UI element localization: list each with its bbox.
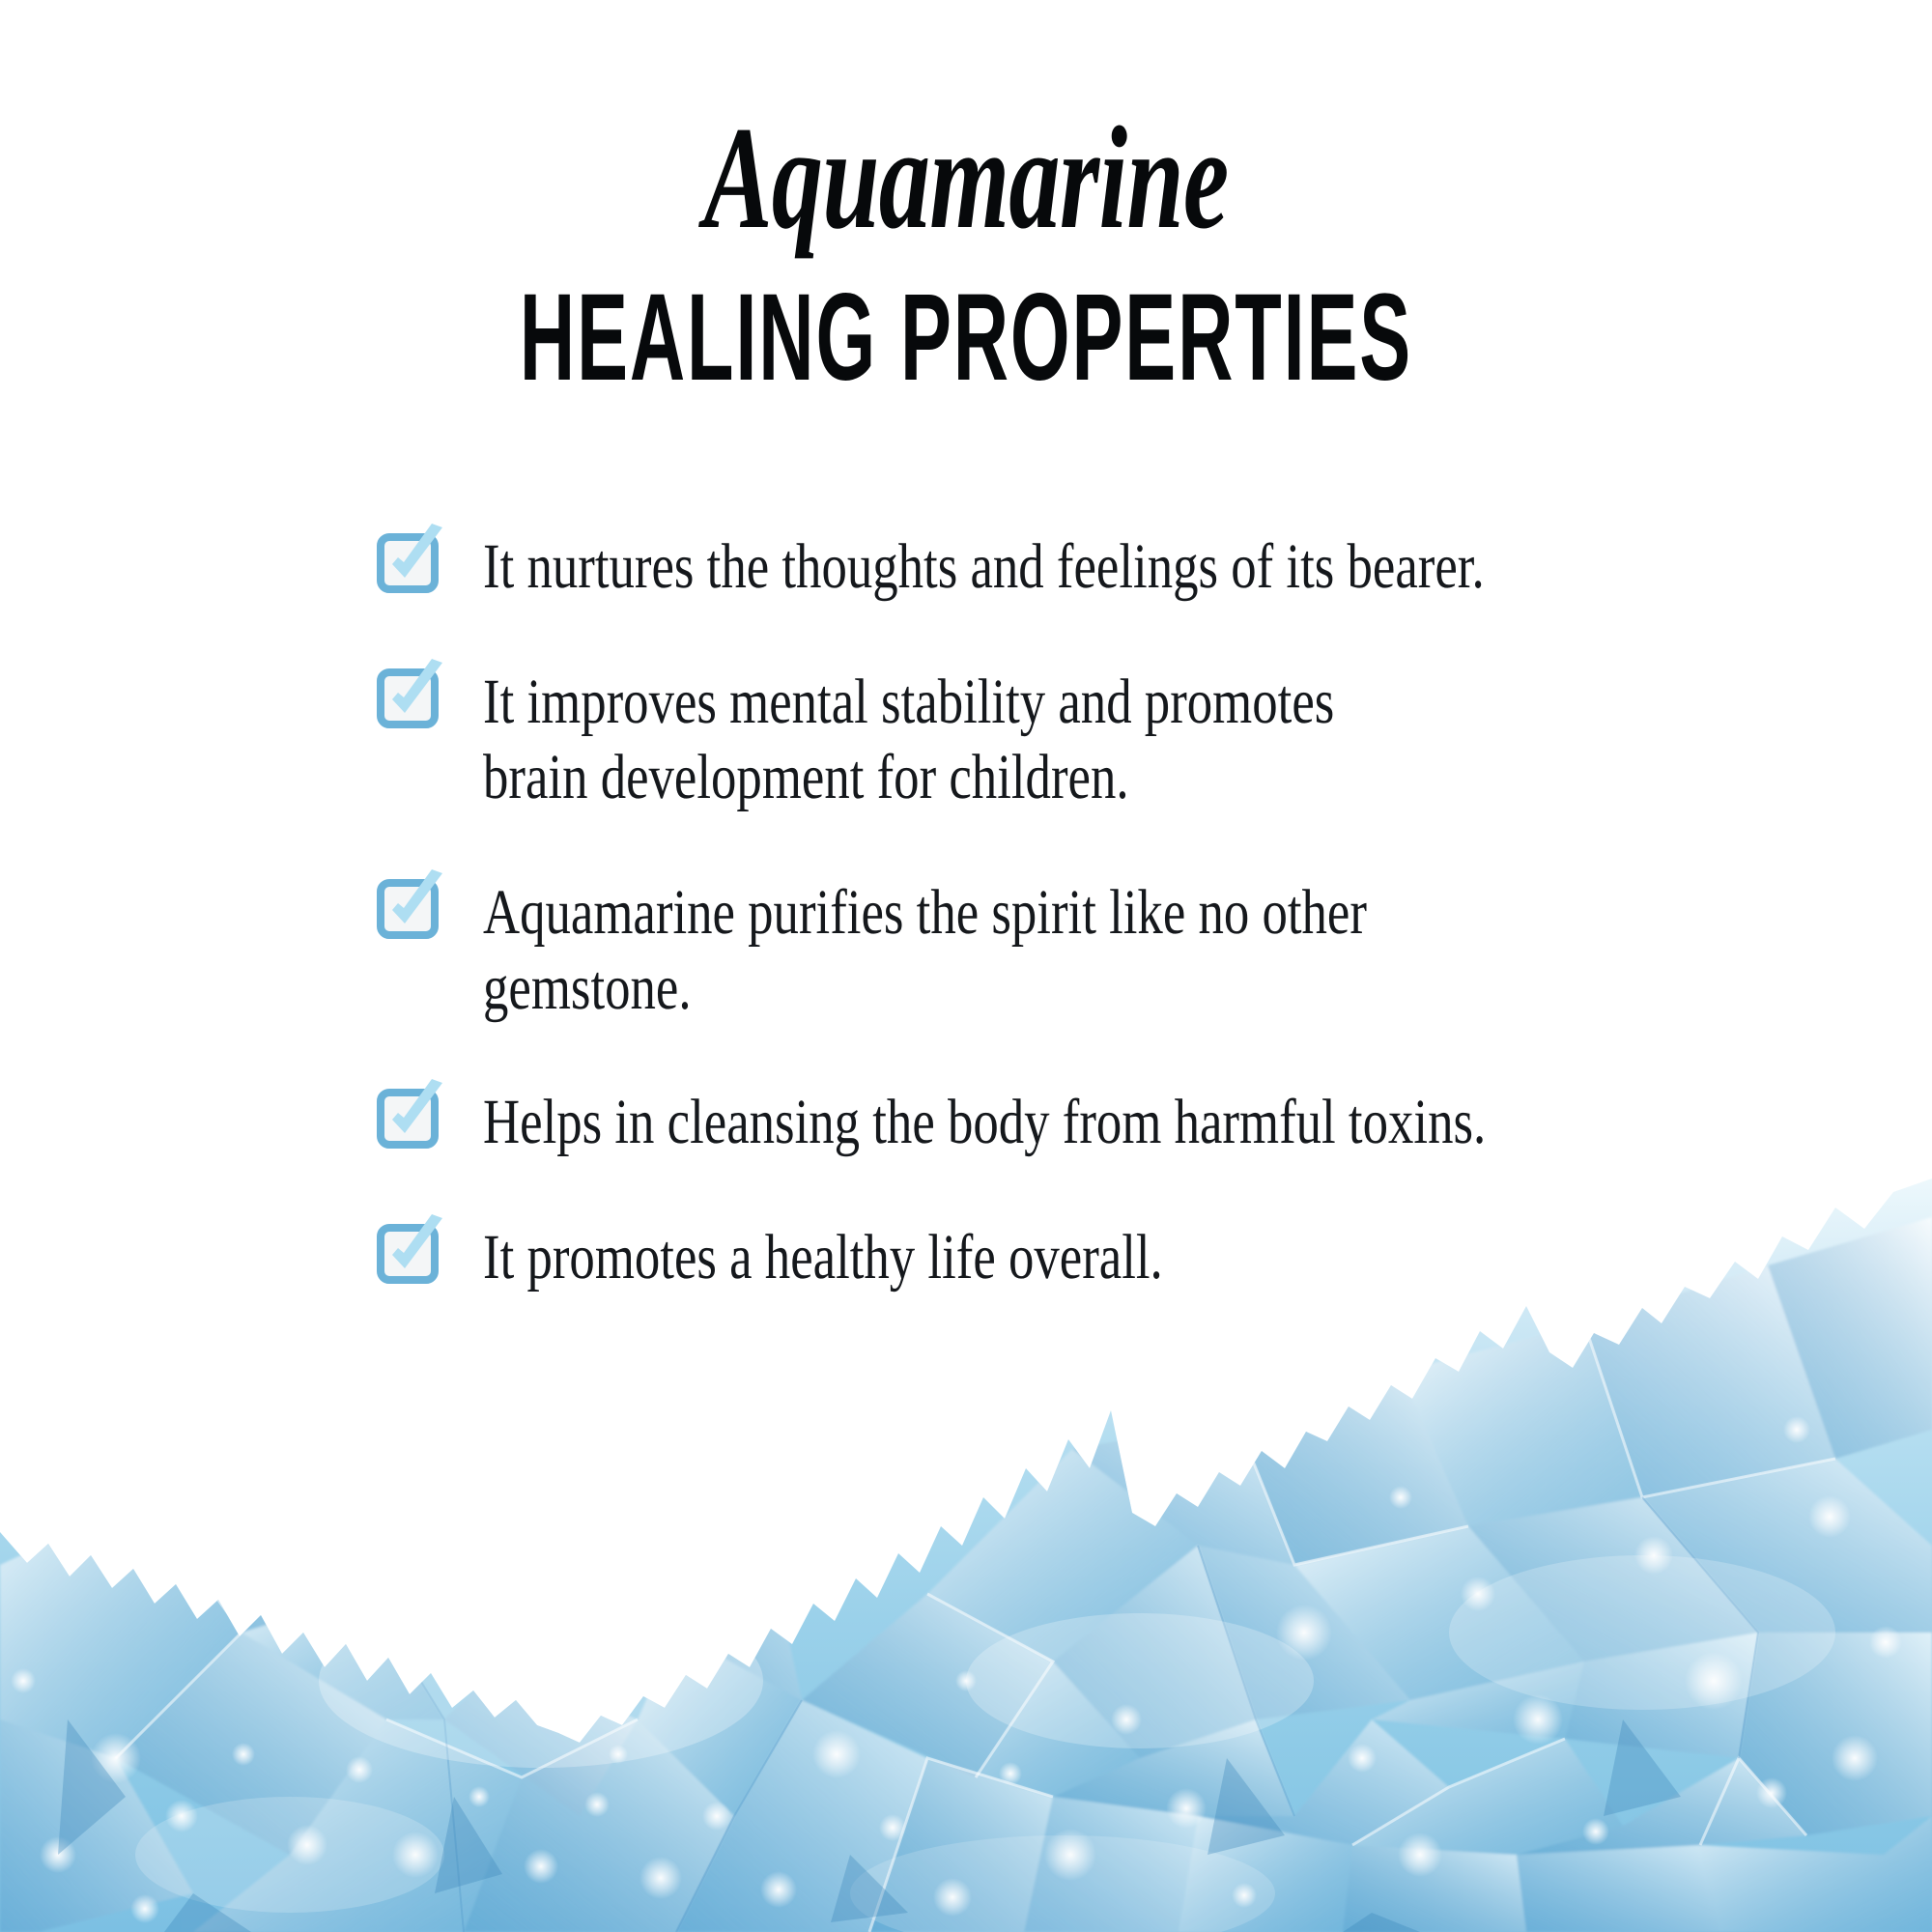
list-item-label: Aquamarine purifies the spirit like no o…: [483, 875, 1497, 1026]
page-subtitle: HEALING PROPERTIES: [367, 276, 1565, 400]
list-item-label: It nurtures the thoughts and feelings of…: [483, 529, 1485, 605]
checkbox-checked-icon: [379, 533, 439, 593]
list-item-label: Helps in cleansing the body from harmful…: [483, 1085, 1486, 1160]
list-item: Aquamarine purifies the spirit like no o…: [379, 875, 1750, 1026]
crushed-ice-photo: [0, 1179, 1932, 1932]
list-item-label: It improves mental stability and promote…: [483, 665, 1334, 815]
list-item: It nurtures the thoughts and feelings of…: [379, 529, 1750, 605]
page-title: Aquamarine: [290, 104, 1642, 251]
checkbox-checked-icon: [379, 879, 439, 939]
checkbox-checked-icon: [379, 1089, 439, 1149]
poster-canvas: Aquamarine HEALING PROPERTIES It nurture…: [0, 0, 1932, 1932]
checkbox-checked-icon: [379, 668, 439, 728]
poster-header: Aquamarine HEALING PROPERTIES: [0, 0, 1932, 400]
list-item: It improves mental stability and promote…: [379, 665, 1750, 815]
list-item: Helps in cleansing the body from harmful…: [379, 1085, 1750, 1160]
